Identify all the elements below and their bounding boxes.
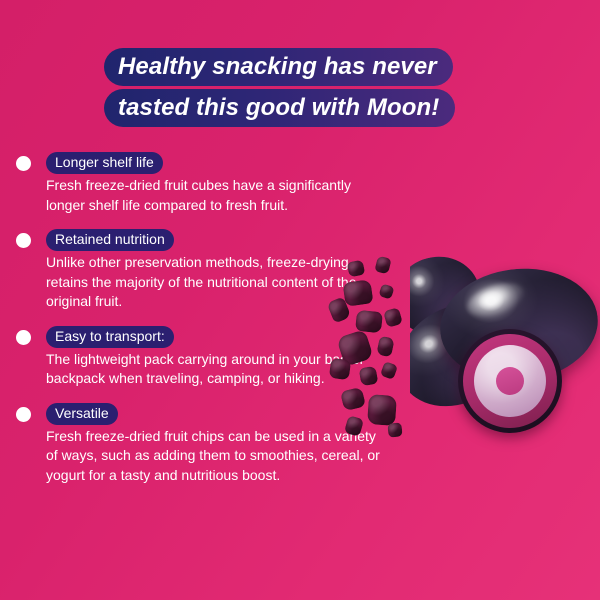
- benefit-tag: Versatile: [46, 403, 118, 425]
- bullet-dot-icon: [16, 330, 31, 345]
- freeze-dried-chip: [367, 394, 397, 426]
- freeze-dried-chip: [380, 361, 398, 380]
- bullet-dot-icon: [16, 233, 31, 248]
- freeze-dried-chips-cluster: [330, 255, 410, 455]
- headline-line-2: tasted this good with Moon!: [104, 89, 455, 127]
- freeze-dried-chip: [374, 256, 391, 275]
- freeze-dried-chip: [329, 358, 352, 381]
- headline: Healthy snacking has never tasted this g…: [104, 48, 534, 127]
- product-image: [330, 255, 600, 455]
- freeze-dried-chip: [387, 422, 402, 437]
- fruit-flesh: [474, 345, 546, 417]
- benefit-tag: Easy to transport:: [46, 326, 174, 348]
- jamun-fruit-cross-section: [458, 329, 562, 433]
- freeze-dried-chip: [355, 310, 383, 334]
- freeze-dried-chip: [342, 279, 373, 307]
- benefit-body: Fresh freeze-dried fruit cubes have a si…: [46, 176, 386, 215]
- fruit-skin-ring: [463, 334, 557, 428]
- whole-fruit-photo: [410, 255, 600, 455]
- freeze-dried-chip: [359, 366, 379, 387]
- freeze-dried-chip: [383, 307, 403, 328]
- headline-line-1: Healthy snacking has never: [104, 48, 453, 86]
- freeze-dried-chip: [344, 415, 364, 437]
- freeze-dried-chip: [347, 260, 366, 278]
- benefit-tag: Retained nutrition: [46, 229, 174, 251]
- list-item: Longer shelf life Fresh freeze-dried fru…: [14, 152, 414, 215]
- promo-poster: Healthy snacking has never tasted this g…: [0, 0, 600, 600]
- freeze-dried-chip: [378, 283, 394, 299]
- freeze-dried-chip: [376, 336, 395, 358]
- fruit-inner-ring: [496, 367, 524, 395]
- bullet-dot-icon: [16, 156, 31, 171]
- bullet-dot-icon: [16, 407, 31, 422]
- benefit-tag: Longer shelf life: [46, 152, 163, 174]
- freeze-dried-chip: [340, 387, 366, 412]
